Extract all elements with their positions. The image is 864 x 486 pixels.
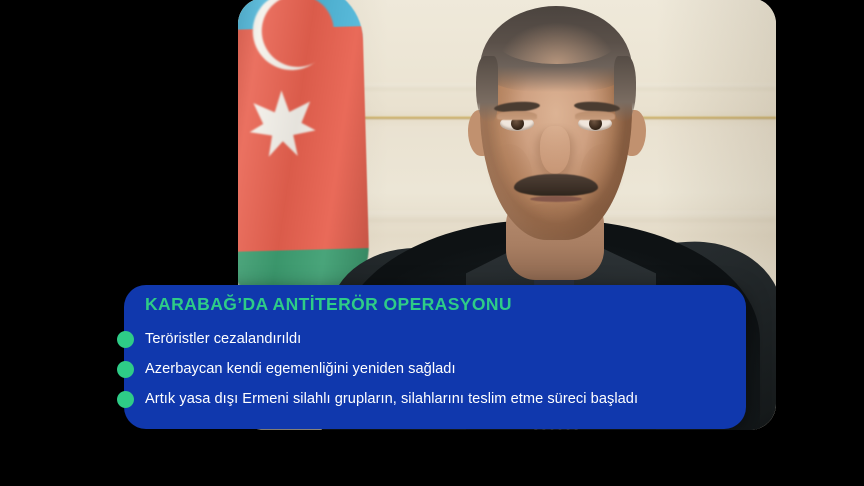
flag-fold-shading [238, 0, 371, 314]
mustache [514, 174, 598, 196]
list-item: Artık yasa dışı Ermeni silahlı grupların… [124, 384, 746, 414]
eyelid-right [575, 111, 615, 120]
eyelid-left [497, 111, 537, 120]
hair-temple-right [614, 56, 636, 122]
news-card-stage: KARABAĞ’DA ANTİTERÖR OPERASYONU Terörist… [0, 0, 864, 486]
bullet-text: Artık yasa dışı Ermeni silahlı grupların… [145, 391, 638, 407]
cheek-right-shading [580, 144, 626, 208]
list-item: Teröristler cezalandırıldı [124, 324, 746, 354]
cheek-left-shading [486, 144, 532, 208]
bullet-list: Teröristler cezalandırıldı Azerbaycan ke… [124, 324, 746, 414]
headline: KARABAĞ’DA ANTİTERÖR OPERASYONU [145, 294, 512, 315]
bullet-marker-icon [117, 391, 134, 408]
bullet-marker-icon [117, 331, 134, 348]
bullet-marker-icon [117, 361, 134, 378]
caption-panel: KARABAĞ’DA ANTİTERÖR OPERASYONU Terörist… [124, 285, 746, 429]
chin-shading [516, 202, 598, 242]
hair [480, 6, 632, 92]
hair-temple-left [476, 56, 498, 122]
azerbaijan-flag-icon [238, 0, 371, 314]
bullet-text: Azerbaycan kendi egemenliğini yeniden sa… [145, 361, 456, 377]
nose [540, 126, 570, 174]
list-item: Azerbaycan kendi egemenliğini yeniden sa… [124, 354, 746, 384]
bullet-text: Teröristler cezalandırıldı [145, 331, 301, 347]
